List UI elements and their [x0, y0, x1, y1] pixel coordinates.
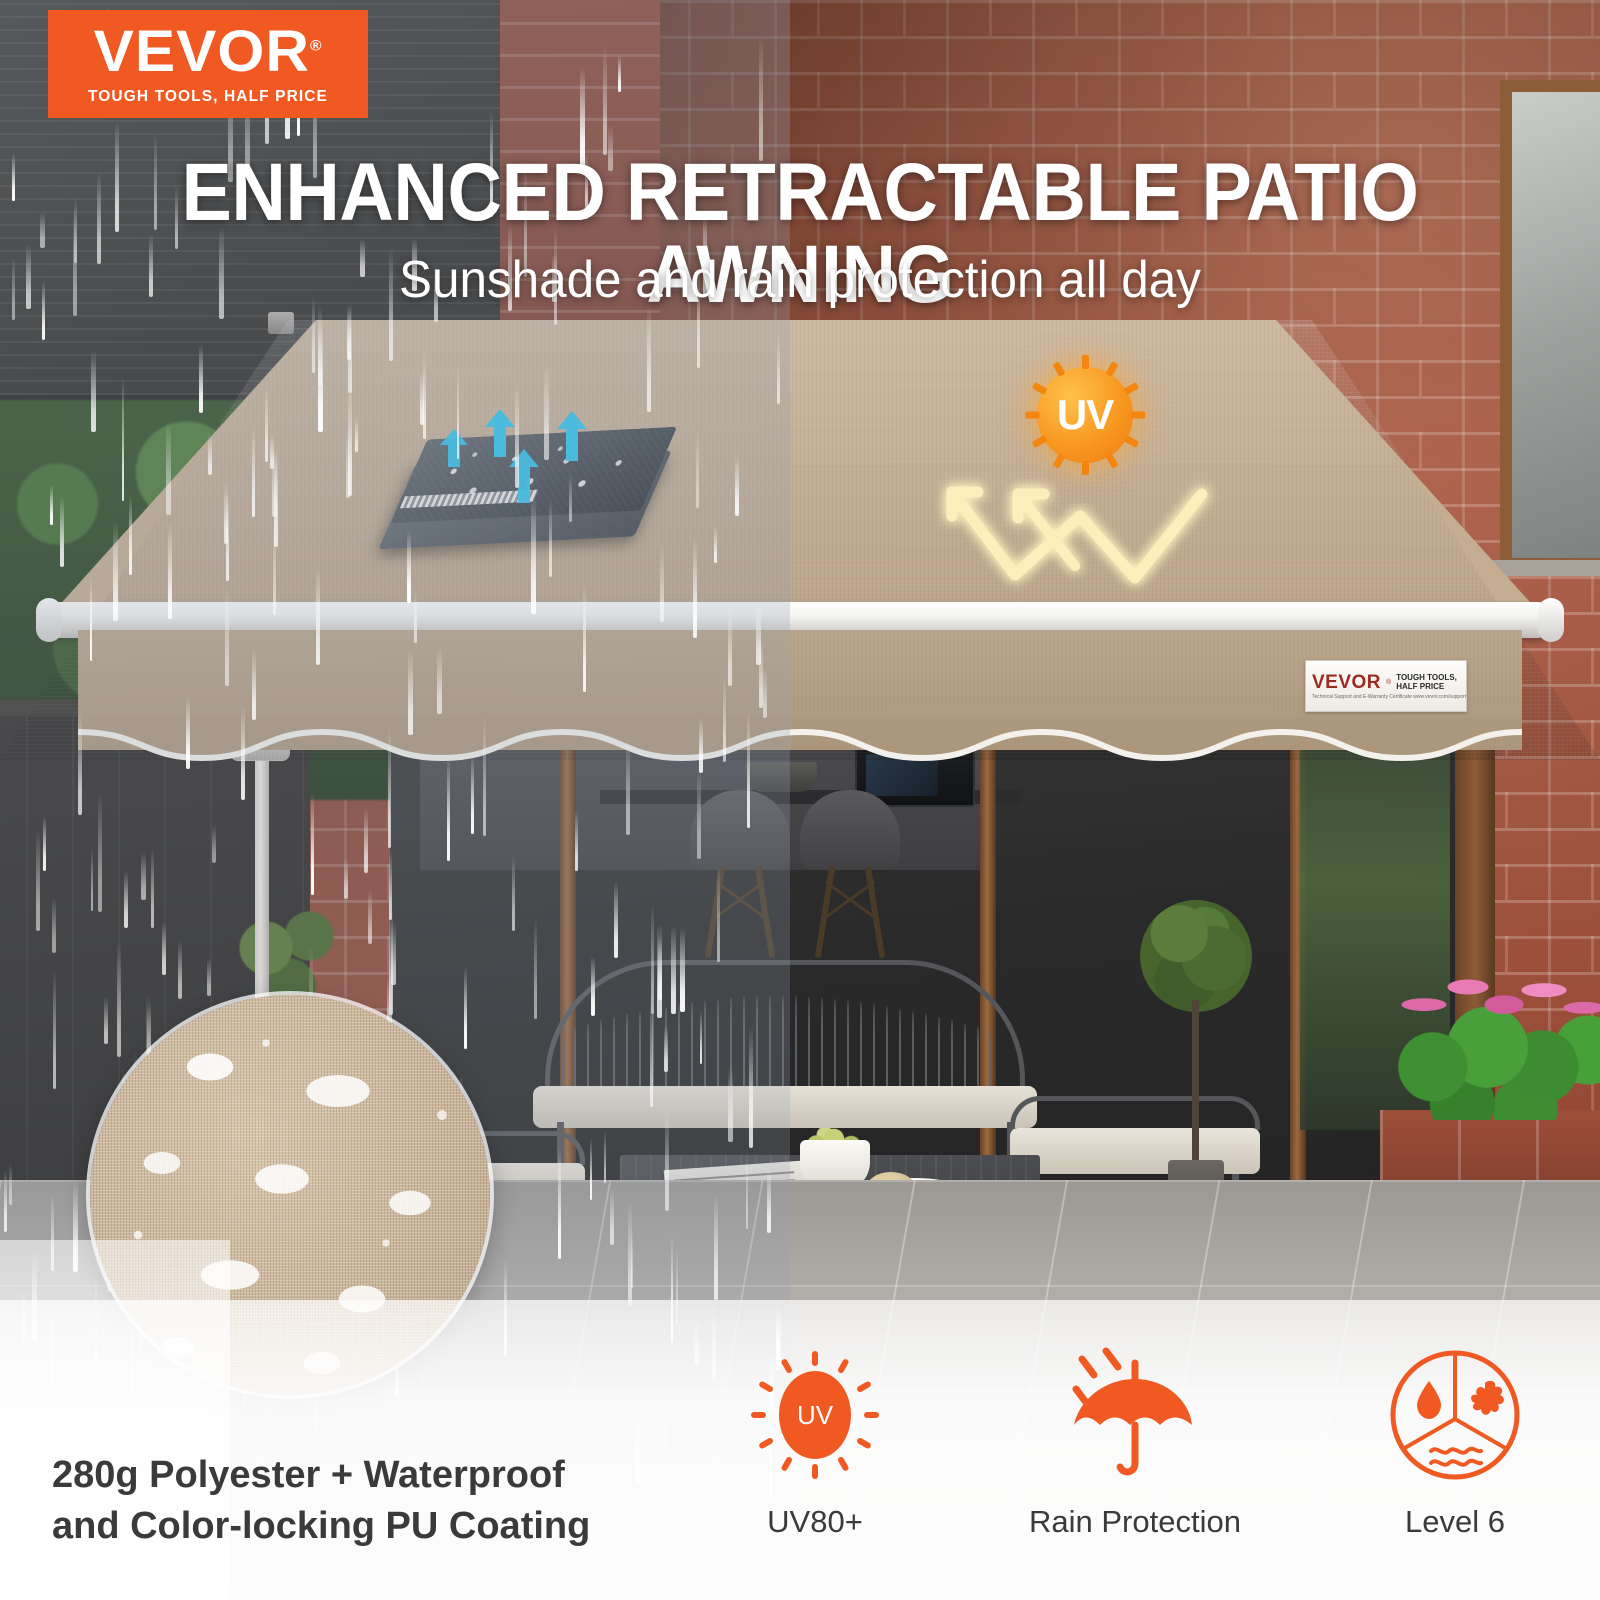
water-repel-arrows [390, 405, 670, 535]
fabric-caption: 280g Polyester + Waterproof and Color-lo… [52, 1450, 672, 1553]
stool-crossbrace [710, 878, 770, 922]
sun-ray [1032, 435, 1048, 448]
tag-fine-print: Technical Support and E-Warranty Certifi… [1312, 695, 1460, 700]
pink-flowers [1400, 955, 1600, 1035]
sun-ray [837, 1358, 850, 1374]
sun-ray [864, 1412, 879, 1418]
sun-ray [1026, 412, 1040, 419]
sun-disc: UV [1037, 367, 1133, 463]
bar-stool-right [800, 790, 900, 980]
product-banner: VEVOR ® TOUGH TOOLS, HALF PRICE Technica… [0, 0, 1600, 1600]
front-bar-end-cap [36, 598, 62, 642]
sun-ray [1124, 382, 1140, 395]
sun-uv-label: UV [1057, 391, 1113, 439]
feature-label-rain: Rain Protection [1029, 1504, 1241, 1540]
planter-wall [1380, 1110, 1600, 1190]
sun-ray [751, 1412, 766, 1418]
sun-ray [812, 1464, 818, 1479]
feature-uv80: UV UV80+ [690, 1340, 940, 1540]
bench-cushion [533, 1086, 1037, 1128]
uv-sun-icon: UV [751, 1340, 879, 1490]
stool-seat [800, 790, 900, 870]
logo-brand-text: VEVOR [94, 19, 310, 84]
uv-badge-label: UV [797, 1400, 833, 1431]
tag-slogan-line1: TOUGH TOOLS, [1396, 673, 1457, 682]
uv-badge-disc: UV [779, 1371, 851, 1459]
feature-level-6: Level 6 [1330, 1340, 1580, 1540]
sun-ray [1052, 453, 1065, 469]
fabric-water-beads [90, 995, 490, 1395]
feature-row: UV UV80+ Rain Protection [690, 1340, 1580, 1580]
feature-label-uv: UV80+ [767, 1504, 863, 1540]
tag-registered-mark: ® [1386, 679, 1391, 686]
sun-ray [780, 1358, 793, 1374]
page-subtitle: Sunshade and rain protection all day [40, 252, 1560, 309]
sun-ray [1082, 355, 1089, 369]
awning-scalloped-edge [78, 718, 1522, 764]
front-bar-end-cap [1538, 598, 1564, 642]
sun-ray [1124, 435, 1140, 448]
topiary-stem [1192, 1000, 1199, 1168]
fabric-caption-line2: and Color-locking PU Coating [52, 1501, 672, 1552]
topiary-foliage [1140, 900, 1252, 1012]
bar-stool-left [690, 790, 790, 980]
feature-label-level: Level 6 [1405, 1504, 1505, 1540]
logo-wordmark: VEVOR® [94, 23, 323, 81]
uv-sun-icon: UV [1025, 355, 1145, 475]
sun-ray [1132, 412, 1146, 419]
sun-ray [758, 1437, 774, 1450]
wind-resistance-level-icon [1385, 1340, 1525, 1490]
sun-ray [856, 1437, 872, 1450]
stool-seat [690, 790, 790, 870]
tag-slogan-line2: HALF PRICE [1396, 682, 1457, 691]
sun-ray [812, 1351, 818, 1366]
chair-arm [1010, 1096, 1260, 1130]
sun-ray [837, 1456, 850, 1472]
sun-ray [758, 1380, 774, 1393]
uv-reflection-arrows [930, 470, 1230, 605]
waterproof-fabric-diagram [390, 405, 670, 575]
vevor-logo: VEVOR® TOUGH TOOLS, HALF PRICE [48, 10, 368, 118]
sun-ray [856, 1380, 872, 1393]
fabric-caption-line1: 280g Polyester + Waterproof [52, 1450, 672, 1501]
sun-ray [1105, 453, 1118, 469]
umbrella-rain-icon [1060, 1340, 1210, 1490]
product-brand-tag: VEVOR ® TOUGH TOOLS, HALF PRICE Technica… [1305, 660, 1467, 712]
logo-registered-mark: ® [310, 37, 323, 54]
tag-brand-name: VEVOR [1312, 673, 1381, 692]
sun-ray [1105, 361, 1118, 377]
feature-rain-protection: Rain Protection [1010, 1340, 1260, 1540]
stool-crossbrace [820, 878, 880, 922]
bench-bars [561, 988, 1009, 1092]
fabric-closeup-circle [90, 995, 490, 1395]
logo-slogan: TOUGH TOOLS, HALF PRICE [88, 88, 328, 106]
sun-ray [780, 1456, 793, 1472]
counter-bowl [745, 762, 817, 792]
uv-protection-graphic: UV [930, 355, 1230, 605]
